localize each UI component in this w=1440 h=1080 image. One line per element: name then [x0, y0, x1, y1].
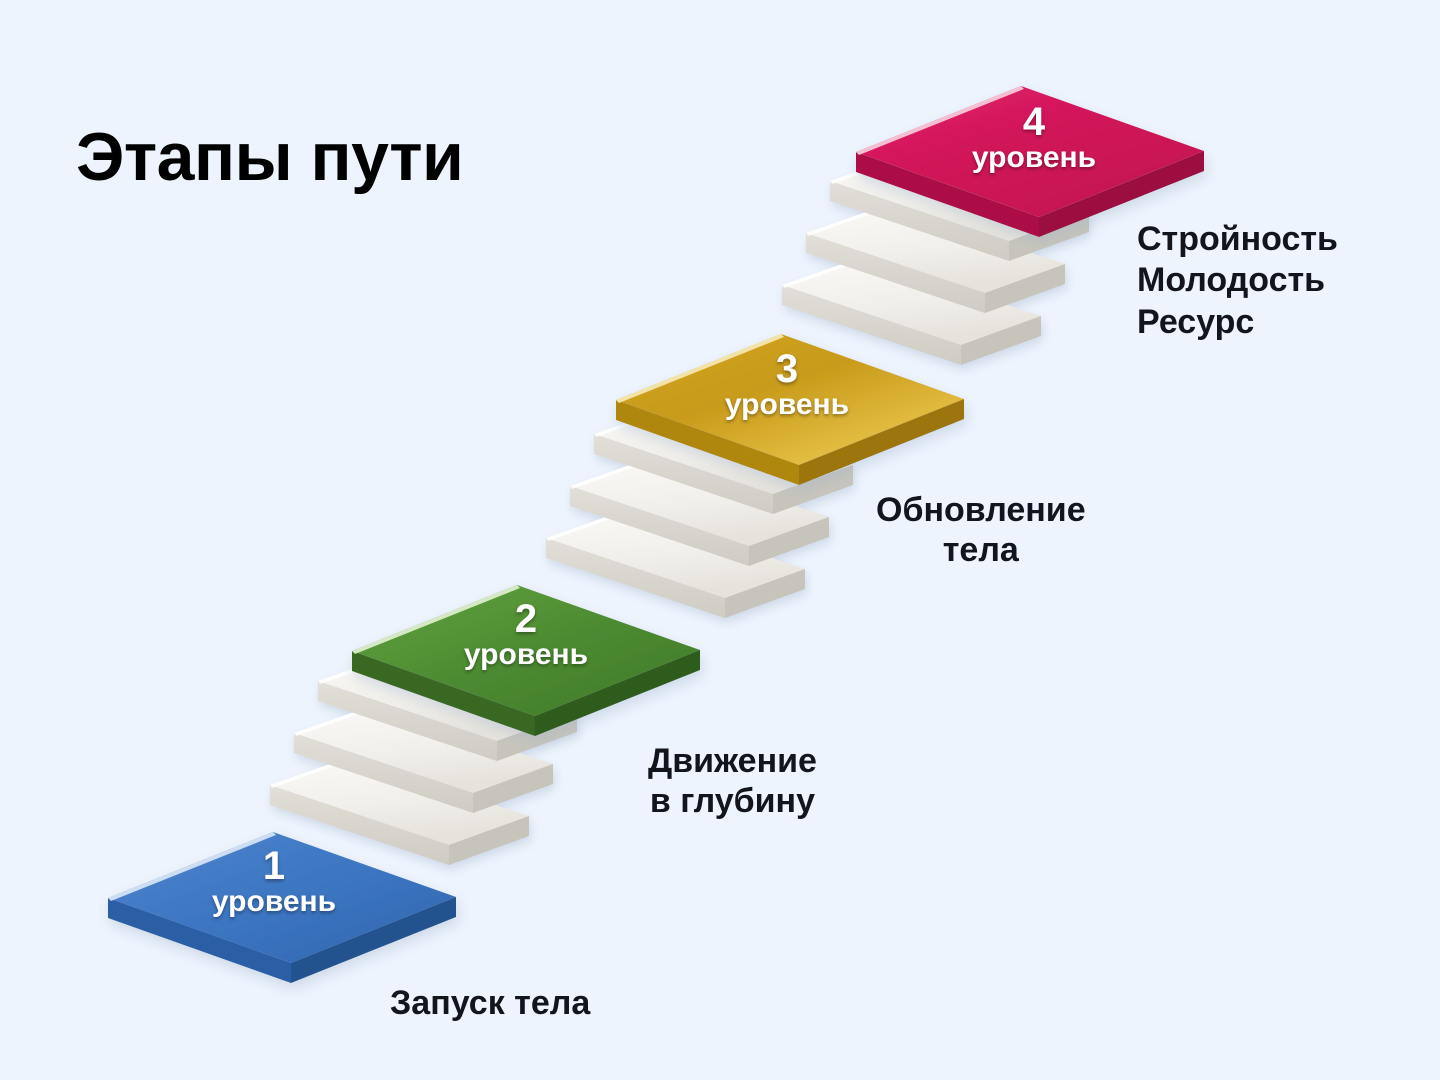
- level-platform-1[interactable]: [108, 832, 456, 983]
- caption-level-1: Запуск тела: [390, 983, 590, 1023]
- caption-level-3: Обновление тела: [876, 490, 1086, 570]
- caption-level-4: Стройность Молодость Ресурс: [1137, 219, 1338, 343]
- infographic-canvas: 1 уровень 2 уровень 3 уровень 4 уровень …: [0, 0, 1440, 1080]
- caption-level-2: Движение в глубину: [648, 741, 817, 821]
- page-title: Этапы пути: [76, 118, 463, 196]
